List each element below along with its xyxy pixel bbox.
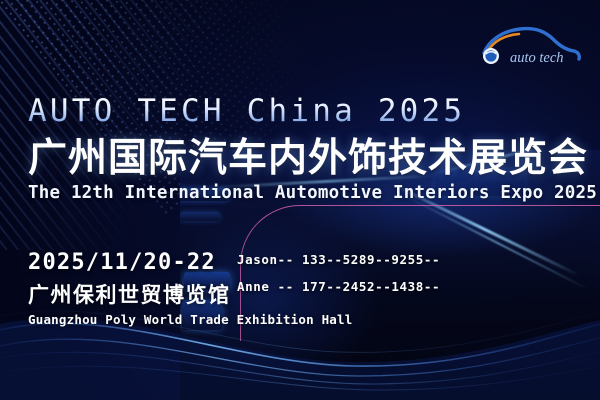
- auto-tech-logo[interactable]: auto tech: [474, 22, 586, 70]
- subtitle-en: The 12th International Automotive Interi…: [28, 185, 588, 203]
- logo-text: auto tech: [510, 50, 564, 66]
- contact-block: Jason-- 133--5289--9255-- Anne -- 177--2…: [237, 254, 440, 293]
- event-poster: auto tech AUTO TECH China 2025 广州国际汽车内外饰…: [0, 0, 600, 400]
- contact-anne: Anne -- 177--2452--1438--: [237, 281, 440, 294]
- headline-en: AUTO TECH China 2025: [28, 96, 588, 127]
- contact-jason: Jason-- 133--5289--9255--: [237, 254, 440, 267]
- headline-block: AUTO TECH China 2025 广州国际汽车内外饰技术展览会 The …: [28, 96, 588, 202]
- air-vent: [180, 212, 220, 221]
- headline-cn: 广州国际汽车内外饰技术展览会: [28, 139, 588, 180]
- venue-name-en: Guangzhou Poly World Trade Exhibition Ha…: [28, 314, 352, 327]
